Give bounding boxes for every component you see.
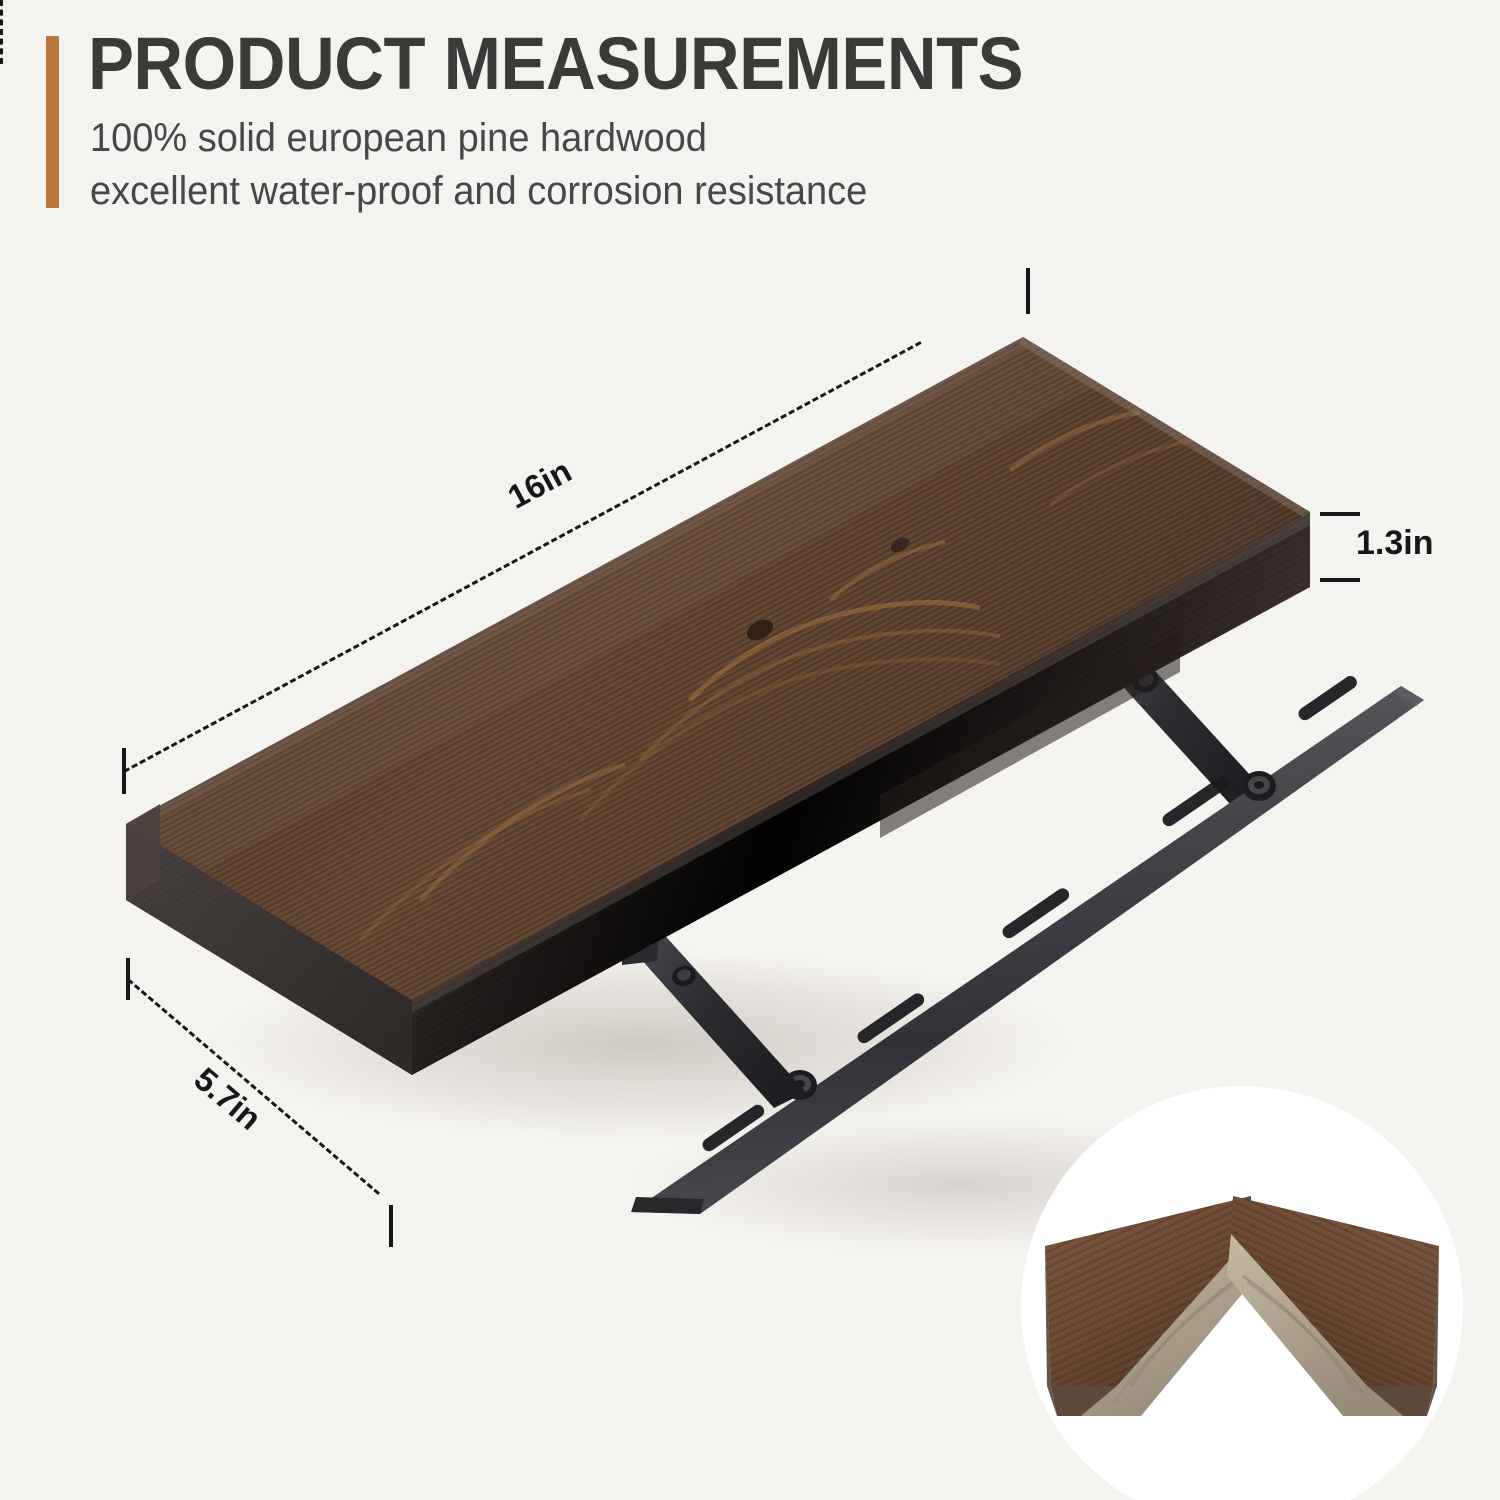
dimension-tick-depth-end (389, 1205, 393, 1247)
dimension-tick-length-end (1026, 268, 1030, 314)
dimension-cap-thickness-bottom (1320, 578, 1360, 582)
dimension-label-thickness: 1.3in (1356, 524, 1433, 563)
product-measurements-infographic: PRODUCT MEASUREMENTS 100% solid european… (0, 0, 1500, 1500)
cross-section-inset (1021, 1086, 1463, 1500)
dimension-cap-thickness-top (1320, 512, 1360, 516)
bracket-bolt-right (1242, 771, 1276, 801)
dimension-tick-depth-start (126, 958, 130, 1000)
dimension-tick-length-start (122, 748, 126, 794)
